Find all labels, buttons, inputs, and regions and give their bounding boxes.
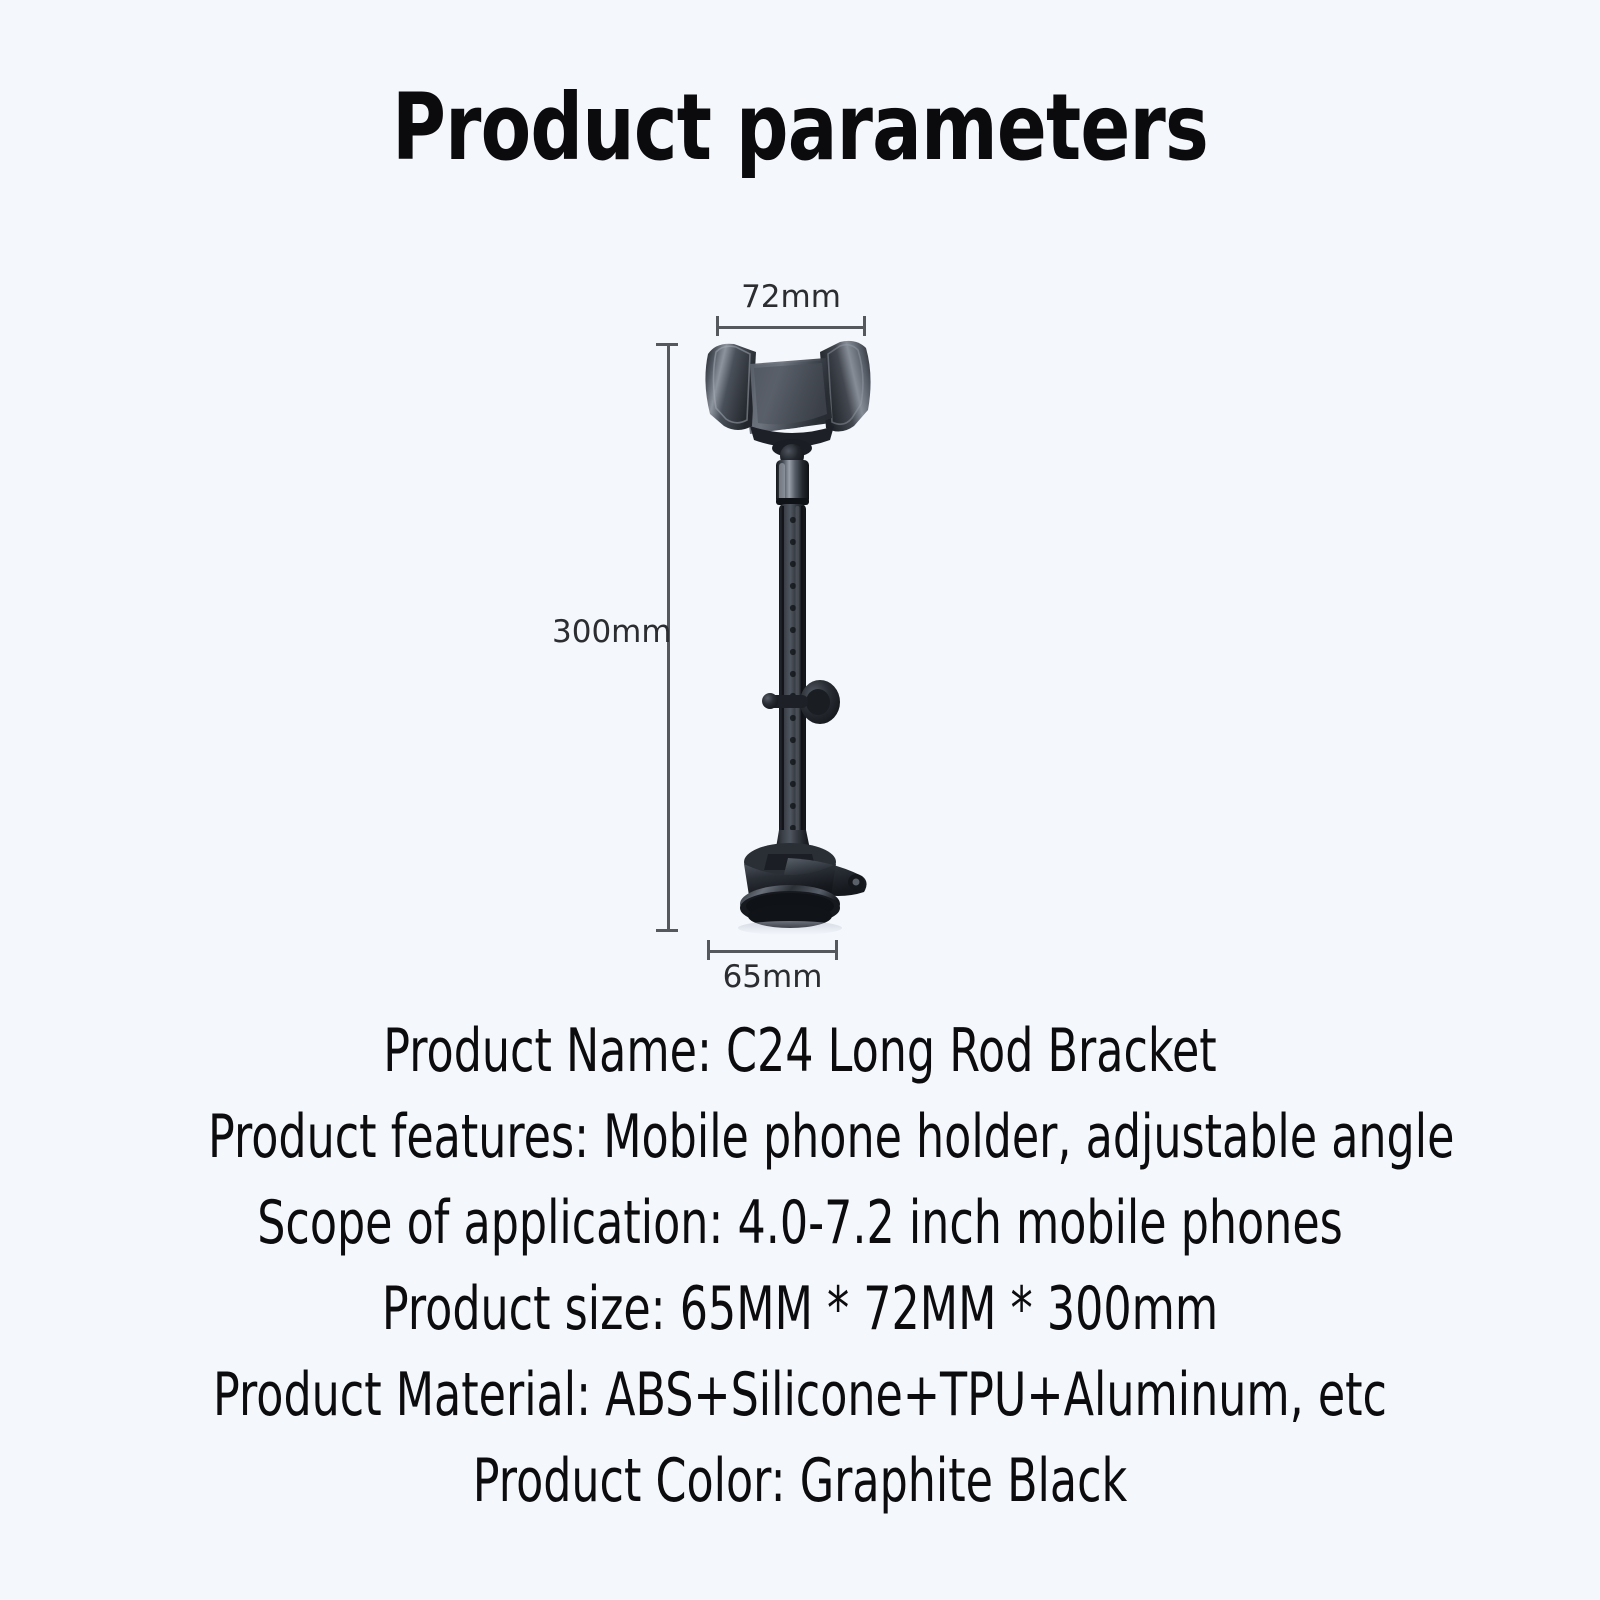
spec-list: Product Name: C24 Long Rod Bracket Produ… <box>0 1008 1600 1524</box>
product-figure: 72mm 300mm 65mm <box>0 260 1600 1000</box>
textured-long-rod <box>779 504 806 840</box>
spec-line-product-name: Product Name: C24 Long Rod Bracket <box>208 1008 1392 1094</box>
dimension-label-width-top: 72mm <box>716 280 866 314</box>
dimension-cap-height-top <box>656 343 678 346</box>
suction-cup-base <box>740 830 867 928</box>
dimension-cap-height-bottom <box>656 929 678 932</box>
dimension-label-width-bottom: 65mm <box>707 960 838 994</box>
spec-line-scope: Scope of application: 4.0-7.2 inch mobil… <box>208 1180 1392 1266</box>
dimension-label-height: 300mm <box>552 615 672 649</box>
dimension-line-width-bottom <box>707 950 838 953</box>
spec-line-product-color: Product Color: Graphite Black <box>208 1438 1392 1524</box>
metal-collar <box>776 460 809 505</box>
product-image <box>680 330 900 950</box>
page-title: Product parameters <box>160 78 1440 178</box>
phone-clamp <box>705 341 870 447</box>
dimension-line-width-top <box>716 326 866 329</box>
spec-line-product-material: Product Material: ABS+Silicone+TPU+Alumi… <box>208 1352 1392 1438</box>
spec-line-product-size: Product size: 65MM * 72MM * 300mm <box>208 1266 1392 1352</box>
spec-line-product-features: Product features: Mobile phone holder, a… <box>208 1094 1392 1180</box>
product-parameters-page: Product parameters 72mm 300mm 65mm <box>0 0 1600 1600</box>
